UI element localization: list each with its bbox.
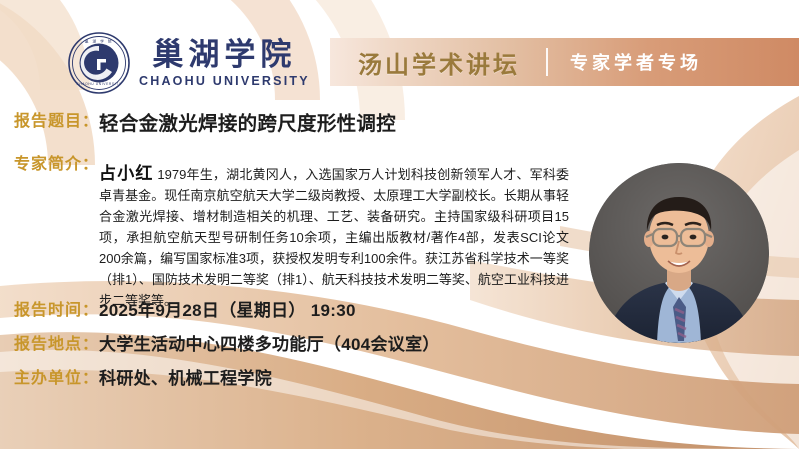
svg-text:1977: 1977 bbox=[96, 74, 102, 78]
speaker-bio-paragraph: 占小红 1979年生，湖北黄冈人，入选国家万人计划科技创新领军人才、军科委卓青基… bbox=[99, 163, 569, 311]
university-logo: CHAOHU UNIVERSITY 巢 湖 学 院 1977 巢湖学院 CHAO… bbox=[68, 32, 310, 94]
poster-header: CHAOHU UNIVERSITY 巢 湖 学 院 1977 巢湖学院 CHAO… bbox=[0, 0, 799, 100]
speaker-name: 占小红 bbox=[99, 164, 154, 183]
svg-text:CHAOHU UNIVERSITY: CHAOHU UNIVERSITY bbox=[76, 82, 121, 86]
report-time-label: 报告时间： bbox=[14, 296, 99, 320]
report-time-row: 报告时间： 2025年9月28日（星期日） 19:30 bbox=[14, 296, 356, 321]
speaker-bio-label: 专家简介： bbox=[14, 150, 99, 174]
report-host-value: 科研处、机械工程学院 bbox=[99, 364, 272, 389]
banner-subtitle: 专家学者专场 bbox=[570, 49, 702, 75]
speaker-bio-text: 1979年生，湖北黄冈人，入选国家万人计划科技创新领军人才、军科委卓青基金。现任… bbox=[99, 167, 569, 308]
report-host-row: 主办单位： 科研处、机械工程学院 bbox=[14, 364, 272, 389]
report-place-row: 报告地点： 大学生活动中心四楼多功能厅（404会议室） bbox=[14, 330, 440, 355]
university-name-en: CHAOHU UNIVERSITY bbox=[139, 75, 310, 88]
speaker-portrait bbox=[589, 163, 769, 343]
report-host-label: 主办单位： bbox=[14, 364, 99, 388]
chaohu-university-crest-icon: CHAOHU UNIVERSITY 巢 湖 学 院 1977 bbox=[68, 32, 130, 94]
report-place-label: 报告地点： bbox=[14, 330, 99, 354]
report-title-row: 报告题目： 轻合金激光焊接的跨尺度形性调控 bbox=[14, 107, 396, 136]
event-banner: 汤山学术讲坛 专家学者专场 bbox=[330, 38, 799, 86]
banner-divider bbox=[546, 48, 548, 76]
report-time-value: 2025年9月28日（星期日） 19:30 bbox=[99, 296, 356, 321]
poster-canvas: CHAOHU UNIVERSITY 巢 湖 学 院 1977 巢湖学院 CHAO… bbox=[0, 0, 799, 449]
svg-text:巢 湖 学 院: 巢 湖 学 院 bbox=[85, 39, 113, 44]
banner-title: 汤山学术讲坛 bbox=[358, 45, 520, 80]
university-name-cn: 巢湖学院 bbox=[152, 39, 296, 70]
report-title-label: 报告题目： bbox=[14, 107, 99, 131]
report-place-value: 大学生活动中心四楼多功能厅（404会议室） bbox=[99, 330, 440, 355]
report-title-value: 轻合金激光焊接的跨尺度形性调控 bbox=[99, 107, 396, 136]
